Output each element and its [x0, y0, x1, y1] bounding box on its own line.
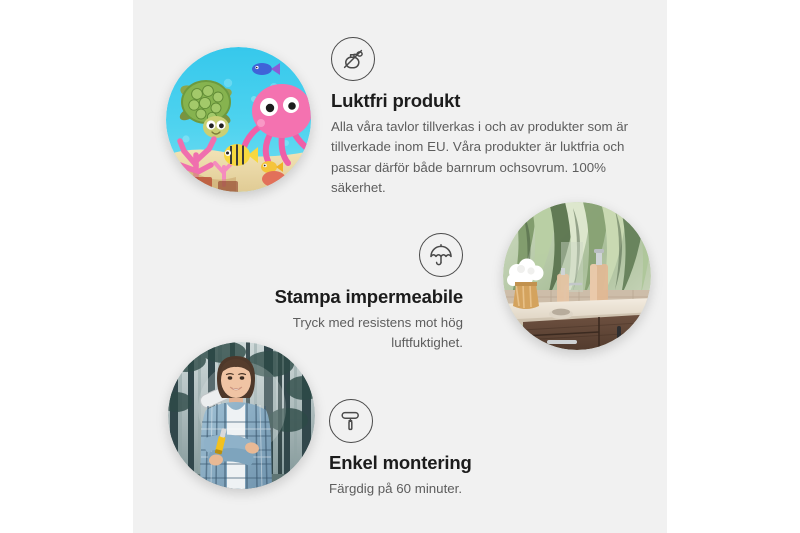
feature-waterproof-icon-wrap — [419, 233, 463, 277]
feature-banner: Luktfri produkt Alla våra tavlor tillver… — [0, 0, 800, 533]
feature-odourless-title: Luktfri produkt — [331, 90, 629, 112]
feature-odourless: Luktfri produkt Alla våra tavlor tillver… — [331, 37, 629, 198]
woman-with-paint-roller-image — [168, 342, 315, 489]
feature-waterproof-title: Stampa impermeabile — [218, 286, 463, 308]
feature-easy-mounting: Enkel montering Färgdig på 60 minuter. — [329, 399, 559, 499]
feature-odourless-body: Alla våra tavlor tillverkas i och av pro… — [331, 117, 629, 198]
no-fragrance-icon — [331, 37, 375, 81]
feature-waterproof-body: Tryck med resistens mot hög luftfuktighe… — [218, 313, 463, 353]
feature-easy-mounting-body: Färgdig på 60 minuter. — [329, 479, 559, 499]
paint-roller-icon — [329, 399, 373, 443]
bathroom-botanical-wallpaper-image — [503, 202, 651, 350]
feature-waterproof: Stampa impermeabile Tryck med resistens … — [218, 233, 463, 354]
feature-easy-mounting-icon-wrap — [329, 399, 373, 443]
content-panel: Luktfri produkt Alla våra tavlor tillver… — [133, 0, 667, 533]
feature-easy-mounting-title: Enkel montering — [329, 452, 559, 474]
underwater-cartoon-mural-image — [166, 47, 311, 192]
umbrella-icon — [419, 233, 463, 277]
feature-odourless-icon-wrap — [331, 37, 375, 81]
